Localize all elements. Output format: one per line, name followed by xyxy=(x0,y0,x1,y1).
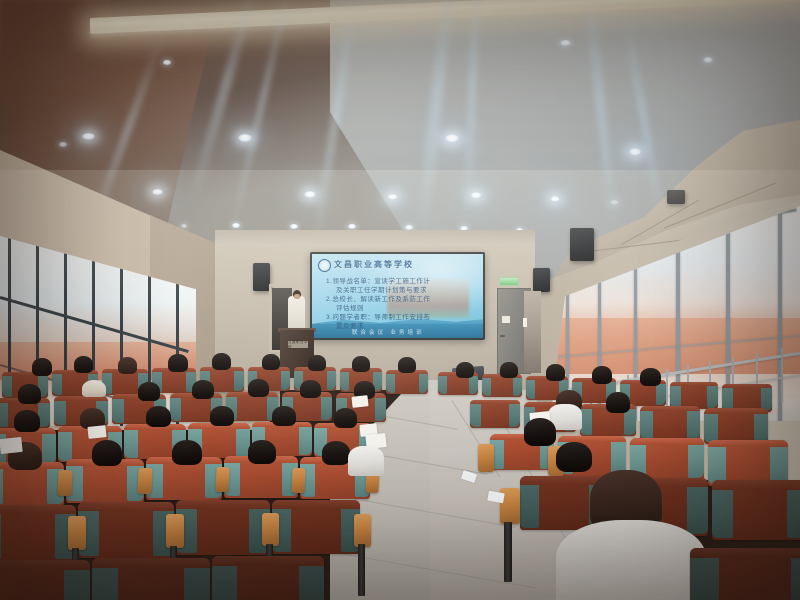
door-opening xyxy=(524,291,541,373)
audience-member xyxy=(212,353,231,370)
auditorium-seat[interactable] xyxy=(640,406,700,440)
audience-member xyxy=(74,356,93,373)
foreground-audience-torso xyxy=(556,520,706,600)
led-screen-frame: 文昌职业高等学校 1.领导战名单：宣读学工施工作计 及关职工任学期计划策与要求 … xyxy=(310,252,485,340)
door-notice-secondary xyxy=(523,318,527,327)
ceiling-downlight xyxy=(82,133,95,140)
slide-bullet: 及关职工任学期计划策与要求 xyxy=(326,286,476,295)
audience-member xyxy=(210,406,234,426)
audience-member xyxy=(592,366,612,384)
seat-armrest xyxy=(478,444,494,472)
auditorium-seat[interactable] xyxy=(78,502,174,558)
audience-member xyxy=(168,354,188,372)
seat-armrest xyxy=(354,514,371,547)
audience-member xyxy=(118,357,137,374)
auditorium-seat[interactable] xyxy=(690,548,800,600)
wall-speaker-far xyxy=(667,190,685,204)
ceiling-downlight xyxy=(348,224,356,229)
audience-member xyxy=(556,442,592,472)
auditorium-seat[interactable] xyxy=(704,408,768,444)
slide-bullet: 3.问题学者职：导师制工作安排布 xyxy=(326,313,476,322)
audience-member xyxy=(18,384,41,404)
handout-paper xyxy=(0,437,23,454)
audience-member xyxy=(92,440,122,466)
audience-member xyxy=(456,362,474,378)
wall-speaker-left xyxy=(253,263,270,291)
ceiling-downlight xyxy=(610,200,619,205)
ceiling-downlight xyxy=(470,192,482,199)
front-wall-trim xyxy=(215,230,535,246)
audience-member xyxy=(300,380,321,398)
ceiling-downlight xyxy=(152,189,163,195)
ceiling-downlight xyxy=(387,194,398,200)
wall-speaker-right xyxy=(570,228,594,261)
exit-sign-icon xyxy=(500,278,518,285)
led-screen: 文昌职业高等学校 1.领导战名单：宣读学工施工作计 及关职工任学期计划策与要求 … xyxy=(312,254,483,338)
auditorium-seat[interactable] xyxy=(0,505,76,561)
audience-member xyxy=(546,364,565,381)
seat-armrest xyxy=(57,470,72,497)
handout-paper xyxy=(351,395,368,408)
seat-armrest xyxy=(291,468,305,494)
audience-member xyxy=(322,441,350,465)
audience-member xyxy=(352,356,370,372)
audience-member xyxy=(248,440,276,464)
auditorium-seat[interactable] xyxy=(712,480,800,540)
audience-member-with-cap xyxy=(82,380,106,397)
auditorium-seat[interactable] xyxy=(176,500,270,555)
seat-leg xyxy=(358,544,365,596)
slide-title: 文昌职业高等学校 xyxy=(334,259,414,270)
auditorium-seat[interactable] xyxy=(470,400,520,428)
ceiling-downlight xyxy=(290,224,298,229)
ceiling-downlight xyxy=(59,142,67,147)
seat-armrest xyxy=(137,468,152,495)
ceiling-downlight xyxy=(560,40,571,46)
ceiling-downlight xyxy=(238,134,252,142)
ceiling-downlight xyxy=(628,148,642,156)
seat-armrest xyxy=(215,467,229,493)
slide-bullet: 评估规则 xyxy=(326,304,476,313)
door-notice xyxy=(502,316,510,323)
audience-member xyxy=(248,379,269,397)
auditorium-seat[interactable] xyxy=(272,500,360,554)
audience-member xyxy=(172,440,202,465)
auditorium-seat[interactable] xyxy=(386,370,428,394)
ceiling-downlight xyxy=(181,224,187,228)
slide-bullet: 1.领导战名单：宣读学工施工作计 xyxy=(326,277,476,286)
ceiling-downlight xyxy=(550,196,560,202)
audience-member xyxy=(500,362,518,378)
presenter-face xyxy=(294,294,300,299)
audience-member xyxy=(32,358,52,376)
slide-bullet-list: 1.领导战名单：宣读学工施工作计 及关职工任学期计划策与要求 2.总校长、解读新… xyxy=(326,277,476,331)
auditorium-seat[interactable] xyxy=(212,556,324,600)
audience-member-torso xyxy=(348,446,384,476)
ceiling-downlight xyxy=(444,134,460,143)
podium-nameplate: 文昌职业学校 xyxy=(288,341,308,348)
lecture-hall-photo: 文昌职业高等学校 1.领导战名单：宣读学工施工作计 及关职工任学期计划策与要求 … xyxy=(0,0,800,600)
audience-member xyxy=(524,418,556,446)
seat-armrest xyxy=(262,513,279,546)
audience-member xyxy=(606,392,630,413)
audience-member xyxy=(398,357,416,373)
audience-member xyxy=(334,408,357,428)
audience-member xyxy=(146,406,171,427)
audience-member xyxy=(640,368,661,386)
handout-paper xyxy=(87,425,106,439)
slide-bullet: 2.总校长、解读新工作及系防工作 xyxy=(326,295,476,304)
ceiling-downlight xyxy=(703,57,713,63)
audience-member xyxy=(192,380,214,399)
audience-member xyxy=(308,355,326,371)
audience-member xyxy=(272,406,296,426)
ceiling-downlight xyxy=(163,60,171,65)
school-emblem-icon xyxy=(318,259,331,272)
audience-member xyxy=(14,410,40,432)
audience-member xyxy=(262,354,280,370)
audience-member xyxy=(138,382,160,401)
seat-leg xyxy=(504,522,512,582)
auditorium-seat[interactable] xyxy=(0,560,90,600)
ceiling-downlight xyxy=(232,223,240,228)
slide-footer-text: 联合会议 业务培训 xyxy=(352,328,425,336)
door-handle[interactable] xyxy=(500,335,505,337)
railing-baluster xyxy=(781,348,783,402)
seat-armrest xyxy=(68,516,86,550)
seat-armrest xyxy=(166,514,184,548)
auditorium-seat[interactable] xyxy=(670,382,718,409)
auditorium-seat[interactable] xyxy=(92,558,210,600)
ceiling-downlight xyxy=(304,191,316,198)
wall-speaker-right-rear xyxy=(533,268,550,292)
